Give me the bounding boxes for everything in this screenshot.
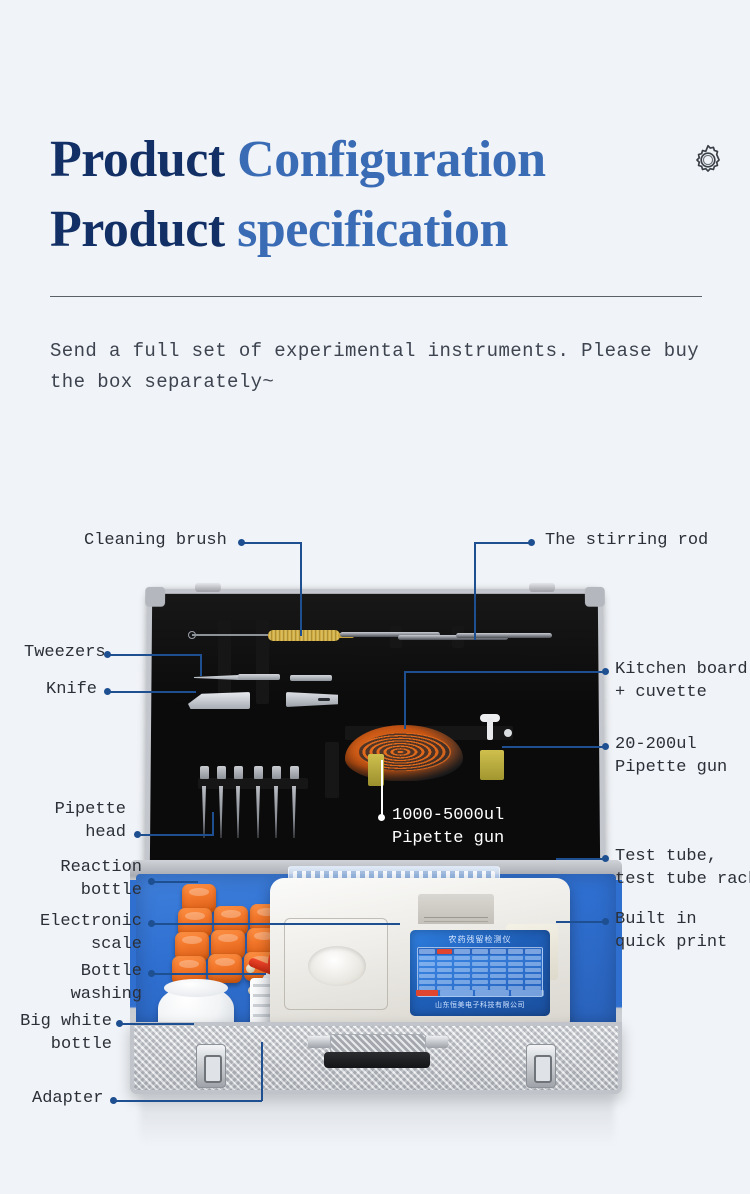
callout-line bbox=[300, 542, 302, 636]
callout-line bbox=[474, 542, 529, 544]
callout-line bbox=[502, 746, 604, 748]
lid-clasp bbox=[529, 583, 555, 592]
pipette-head bbox=[272, 766, 281, 779]
lcd-button[interactable] bbox=[440, 990, 473, 996]
lcd-footer: 山东恒美电子科技有限公司 bbox=[414, 1000, 546, 1010]
stirring-rod bbox=[456, 633, 552, 638]
callout-big-white-bottle: Big white bottle bbox=[10, 1010, 112, 1056]
title-line-1: Product Configuration bbox=[50, 125, 546, 195]
foam-strap bbox=[256, 620, 269, 704]
pipette-gun-20-200 bbox=[480, 750, 504, 780]
lcd-col bbox=[525, 949, 541, 954]
callout-cleaning-brush: Cleaning brush bbox=[84, 529, 227, 552]
title-line-2-part-2: specification bbox=[237, 201, 508, 258]
pipette-head bbox=[290, 766, 299, 779]
case-handle[interactable] bbox=[324, 1052, 430, 1068]
lcd-col bbox=[454, 949, 470, 954]
foam-strap bbox=[198, 778, 308, 789]
foam-strap bbox=[325, 742, 339, 798]
callout-kitchen-board: Kitchen board + cuvette bbox=[615, 658, 748, 704]
case-front-panel bbox=[130, 1022, 622, 1094]
cuvette-pin bbox=[487, 718, 493, 740]
lcd-button-primary[interactable] bbox=[416, 990, 438, 996]
lid-corner bbox=[145, 587, 165, 607]
lcd-table-header bbox=[418, 948, 542, 955]
title-line-2: Product specification bbox=[50, 195, 546, 265]
lcd-col bbox=[508, 949, 524, 954]
lcd-screen[interactable]: 农药残留检测仪 bbox=[410, 930, 550, 1016]
callout-line bbox=[200, 654, 202, 676]
page-header: Product Configuration Product specificat… bbox=[0, 0, 750, 310]
tweezers-tertiary bbox=[290, 675, 332, 681]
tweezers-secondary bbox=[238, 674, 280, 680]
callout-electronic-scale: Electronic scale bbox=[20, 910, 142, 956]
callout-line bbox=[212, 812, 214, 835]
callout-pipette-head: Pipette head bbox=[30, 798, 126, 844]
pipette-head bbox=[200, 766, 209, 779]
lcd-button[interactable] bbox=[511, 990, 544, 996]
case-latch-right[interactable] bbox=[526, 1044, 556, 1088]
quick-print-slot bbox=[418, 894, 494, 924]
title-line-2-part-1: Product bbox=[50, 201, 237, 258]
callout-line bbox=[122, 1023, 194, 1025]
reaction-bottle bbox=[208, 954, 242, 983]
lcd-buttons[interactable] bbox=[416, 990, 544, 996]
title-line-1-part-2: Configuration bbox=[237, 131, 545, 188]
callout-line bbox=[556, 921, 604, 923]
lid-corner bbox=[585, 587, 605, 607]
page-subtitle: Send a full set of experimental instrume… bbox=[50, 336, 702, 398]
callout-tweezers: Tweezers bbox=[24, 641, 106, 664]
lcd-col-selected bbox=[437, 949, 453, 954]
title-line-1-part-1: Product bbox=[50, 131, 237, 188]
lcd-title: 农药残留检测仪 bbox=[414, 934, 546, 945]
callout-line bbox=[110, 691, 196, 693]
handle-pin bbox=[308, 1036, 330, 1048]
header-divider bbox=[50, 296, 702, 297]
callout-pipette-20-200: 20-200ul Pipette gun bbox=[615, 733, 727, 779]
lid-clasp bbox=[195, 583, 221, 592]
callout-line bbox=[556, 858, 604, 860]
callout-line bbox=[244, 542, 301, 544]
pipette-head bbox=[254, 766, 263, 779]
lcd-col bbox=[472, 949, 488, 954]
callout-line bbox=[261, 1042, 263, 1101]
callout-line bbox=[381, 760, 383, 816]
callout-line bbox=[154, 923, 400, 925]
lcd-button[interactable] bbox=[475, 990, 508, 996]
product-spec-page: Product Configuration Product specificat… bbox=[0, 0, 750, 1194]
callout-test-tube: Test tube, test tube rack bbox=[615, 845, 750, 891]
lcd-col bbox=[419, 949, 435, 954]
handle-pin bbox=[426, 1036, 448, 1048]
lcd-col bbox=[490, 949, 506, 954]
callout-line bbox=[154, 973, 266, 975]
cleaning-brush-handle bbox=[192, 634, 268, 636]
callout-line bbox=[154, 881, 198, 883]
cuvette-dot bbox=[504, 729, 512, 737]
callout-line bbox=[404, 671, 406, 729]
case-latch-left[interactable] bbox=[196, 1044, 226, 1088]
sample-well bbox=[308, 946, 366, 986]
callout-line bbox=[116, 1100, 262, 1102]
callout-built-in-print: Built in quick print bbox=[615, 908, 727, 954]
gear-icon bbox=[691, 143, 725, 177]
foam-strap bbox=[218, 620, 231, 704]
callout-dot bbox=[528, 539, 535, 546]
callout-pipette-1000-5000: 1000-5000ul Pipette gun bbox=[392, 804, 504, 850]
cleaning-brush bbox=[268, 630, 340, 641]
callout-line bbox=[140, 834, 214, 836]
page-title: Product Configuration Product specificat… bbox=[50, 125, 546, 265]
callout-adapter: Adapter bbox=[32, 1087, 103, 1110]
callout-bottle-washing: Bottle washing bbox=[20, 960, 142, 1006]
callout-knife: Knife bbox=[46, 678, 97, 701]
detector-instrument: 农药残留检测仪 bbox=[270, 878, 570, 1030]
callout-stirring-rod: The stirring rod bbox=[545, 529, 708, 552]
pipette-head bbox=[234, 766, 243, 779]
callout-line bbox=[404, 671, 604, 673]
pipette-head bbox=[217, 766, 226, 779]
callout-reaction-bottle: Reaction bottle bbox=[30, 856, 142, 902]
callout-line bbox=[474, 542, 476, 640]
product-photo: 农药残留检测仪 bbox=[0, 430, 750, 1194]
callout-line bbox=[110, 654, 202, 656]
